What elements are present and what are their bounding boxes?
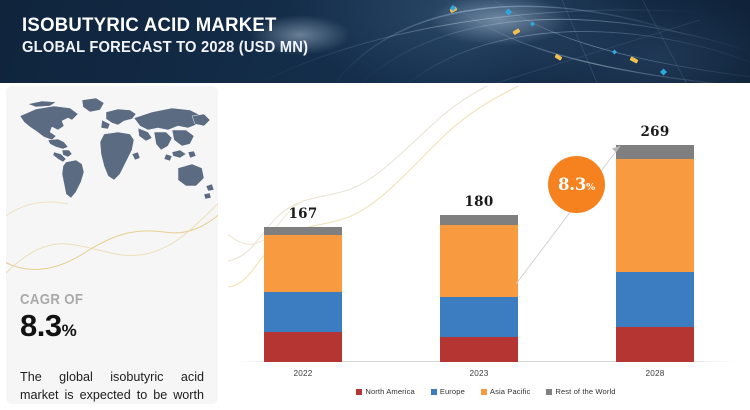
header-banner: ISOBUTYRIC ACID MARKET GLOBAL FORECAST T… <box>0 0 750 83</box>
legend-item-rest-of-the-world[interactable]: Rest of the World <box>546 387 615 396</box>
cagr-percent-sign: % <box>62 321 77 340</box>
chart-panel: 167 2022 180 2023 269 <box>228 86 744 404</box>
legend-swatch-icon <box>546 389 552 395</box>
cagr-label: CAGR OF <box>20 292 83 308</box>
page-title: ISOBUTYRIC ACID MARKET <box>22 14 308 36</box>
sidebar-curve-decoration-icon <box>6 182 218 292</box>
cagr-badge-value: 8.3 <box>558 175 586 194</box>
header-text-block: ISOBUTYRIC ACID MARKET GLOBAL FORECAST T… <box>22 14 323 57</box>
legend-swatch-icon <box>431 389 437 395</box>
legend-label: Europe <box>440 387 465 396</box>
cagr-number: 8.3 <box>20 308 62 343</box>
legend-item-asia-pacific[interactable]: Asia Pacific <box>481 387 530 396</box>
growth-arrow-icon <box>228 86 744 404</box>
page-subtitle: GLOBAL FORECAST TO 2028 (USD MN) <box>22 38 308 57</box>
sidebar-panel: CAGR OF 8.3% The global isobutyric acid … <box>6 86 218 404</box>
cagr-badge-text: 8.3% <box>558 175 595 194</box>
legend-label: North America <box>365 387 414 396</box>
legend-label: Rest of the World <box>555 387 615 396</box>
cagr-badge-unit: % <box>586 182 595 193</box>
infographic-page: ISOBUTYRIC ACID MARKET GLOBAL FORECAST T… <box>0 0 750 410</box>
chart-legend: North America Europe Asia Pacific Rest o… <box>228 387 744 396</box>
legend-label: Asia Pacific <box>490 387 530 396</box>
legend-swatch-icon <box>356 389 362 395</box>
legend-item-north-america[interactable]: North America <box>356 387 414 396</box>
market-description: The global isobutyric acid market is exp… <box>20 368 204 404</box>
cagr-block: CAGR OF 8.3% <box>20 292 92 347</box>
chart-bars: 167 2022 180 2023 269 <box>228 86 744 404</box>
cagr-value: 8.3% <box>20 309 92 347</box>
legend-swatch-icon <box>481 389 487 395</box>
cagr-badge: 8.3% <box>548 156 605 213</box>
legend-item-europe[interactable]: Europe <box>431 387 465 396</box>
